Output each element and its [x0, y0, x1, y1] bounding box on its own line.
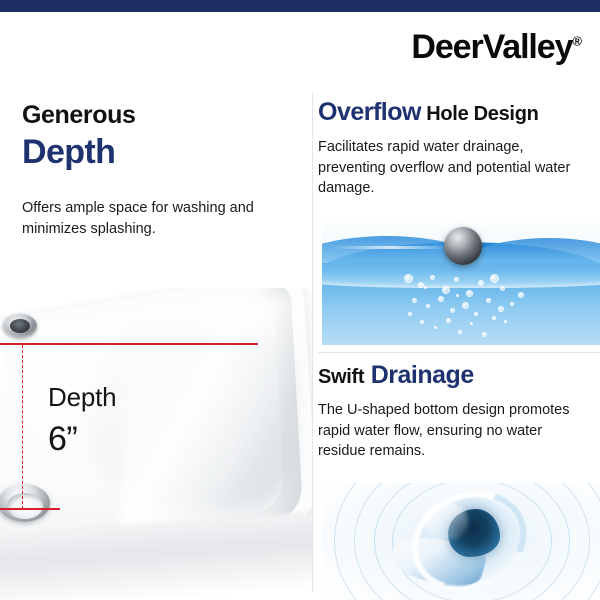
- measurement-line-top: [0, 343, 258, 345]
- measurement-value: 6”: [48, 420, 77, 459]
- overflow-water-image: [322, 222, 600, 345]
- overflow-title: Overflow Hole Design: [318, 100, 600, 125]
- sink-drain-hole-icon: [0, 484, 50, 522]
- bubble: [408, 312, 412, 316]
- bubble: [404, 274, 413, 283]
- bubble: [486, 298, 491, 303]
- bubble: [510, 302, 514, 306]
- brand-logo-name: DeerValley: [411, 28, 572, 66]
- bubble: [424, 286, 427, 289]
- top-accent-bar: [0, 0, 600, 12]
- bubble: [492, 316, 496, 320]
- measurement-line-bottom: [0, 508, 60, 510]
- brand-logo: DeerValley®: [411, 30, 582, 64]
- bubble: [454, 277, 459, 282]
- bubble: [462, 302, 469, 309]
- bubble: [430, 275, 435, 280]
- bubble: [478, 280, 484, 286]
- bubble: [498, 306, 504, 312]
- bubble: [426, 304, 430, 308]
- bubble: [434, 326, 437, 329]
- overflow-hole-icon: [444, 227, 482, 265]
- measurement-dashed-line: [22, 345, 23, 509]
- sink-product-image: [0, 288, 312, 600]
- drainage-body-text: The U-shaped bottom design promotes rapi…: [318, 400, 576, 462]
- depth-body-text: Offers ample space for washing and minim…: [22, 198, 290, 240]
- bubble: [456, 294, 459, 297]
- drainage-title: Swift Drainage: [318, 363, 600, 388]
- bubble: [412, 298, 417, 303]
- bubble: [420, 320, 424, 324]
- bubble: [474, 312, 478, 316]
- overflow-title-accent: Overflow: [318, 98, 421, 126]
- bubble: [438, 296, 444, 302]
- water-splash-highlight: [332, 246, 452, 249]
- horizontal-divider: [318, 352, 600, 353]
- depth-headline: Depth: [22, 133, 115, 172]
- bubble: [450, 308, 455, 313]
- registered-trademark-icon: ®: [572, 34, 582, 49]
- bubble: [490, 274, 499, 283]
- sink-overflow-hole-icon: [3, 314, 37, 338]
- drainage-title-accent: Drainage: [371, 361, 474, 389]
- drainage-feature-panel: Swift Drainage The U-shaped bottom desig…: [318, 363, 600, 462]
- water-bubbles: [400, 272, 530, 338]
- overflow-title-plain: Hole Design: [426, 103, 538, 125]
- depth-kicker: Generous: [22, 101, 136, 130]
- vertical-divider: [312, 92, 313, 592]
- measurement-label: Depth: [48, 382, 116, 413]
- bubble: [442, 286, 450, 294]
- bubble: [504, 320, 507, 323]
- bubble: [466, 290, 473, 297]
- bubble: [446, 318, 451, 323]
- bubble: [482, 332, 487, 337]
- vortex-highlight: [424, 501, 468, 541]
- bubble: [500, 286, 505, 291]
- bubble: [458, 330, 462, 334]
- bubble: [518, 292, 524, 298]
- overflow-body-text: Facilitates rapid water drainage, preven…: [318, 137, 576, 199]
- overflow-feature-panel: Overflow Hole Design Facilitates rapid w…: [318, 100, 600, 199]
- drainage-title-plain: Swift: [318, 366, 364, 388]
- drainage-vortex-image: [322, 483, 600, 600]
- bubble: [470, 322, 473, 325]
